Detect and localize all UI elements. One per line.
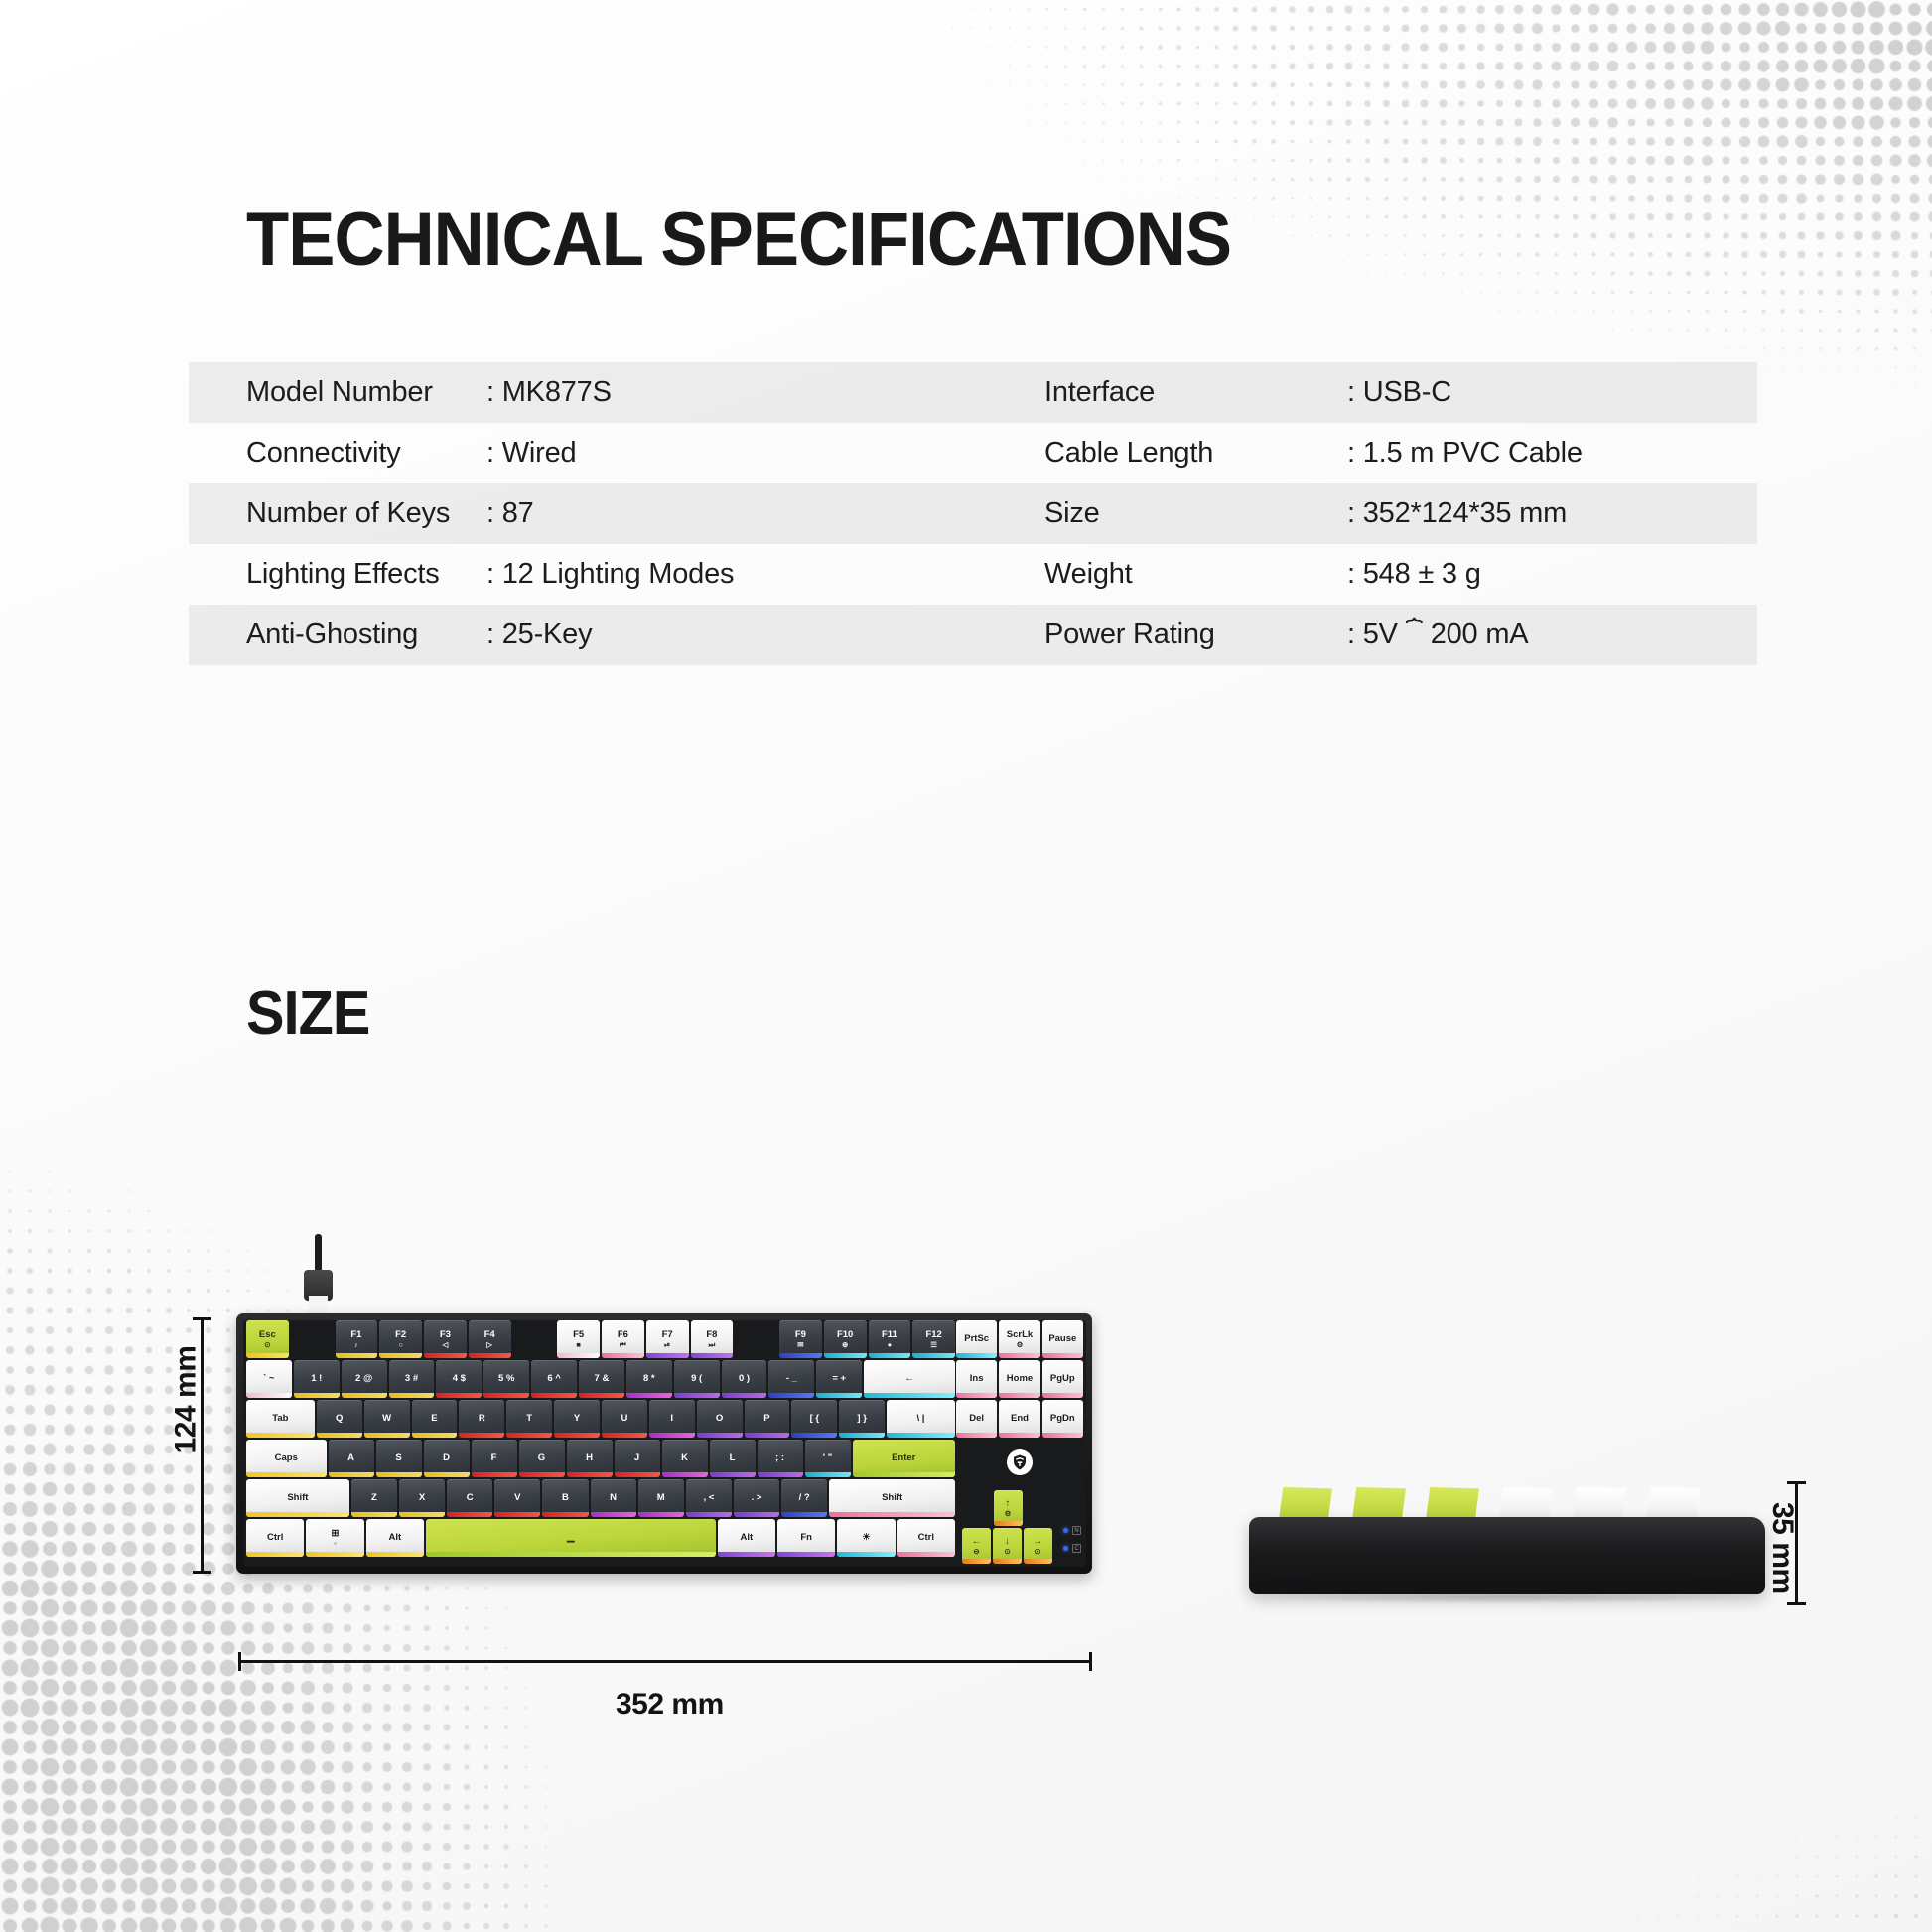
key-label: ←	[972, 1537, 982, 1547]
key-label: = +	[832, 1374, 846, 1384]
key-label: ' "	[823, 1453, 832, 1463]
nav-row-3: DelEndPgDn	[956, 1400, 1083, 1438]
dimension-cap-depth-top	[1787, 1481, 1806, 1484]
key-Y[interactable]: Y	[554, 1400, 600, 1438]
key-label: Del	[969, 1414, 984, 1424]
key-/ ?[interactable]: / ?	[781, 1479, 827, 1517]
key-F11[interactable]: F11●	[869, 1320, 911, 1358]
key-label: C	[467, 1493, 474, 1503]
side-keycap-top	[1573, 1487, 1626, 1521]
key-label: Caps	[275, 1453, 298, 1463]
key-label: 2 @	[355, 1374, 372, 1384]
side-view-foot-left	[1275, 1577, 1309, 1588]
spec-row: Connectivity: WiredCable Length: 1.5 m P…	[189, 423, 1757, 483]
key-label: N	[610, 1493, 617, 1503]
key-label: Ctrl	[267, 1533, 283, 1543]
key-1 ![interactable]: 1 !	[294, 1360, 340, 1398]
spec-label: Number of Keys	[189, 497, 486, 530]
key-sublabel: ⏮	[620, 1341, 626, 1349]
key-sublabel: ⊙	[1004, 1548, 1010, 1556]
key-8 *[interactable]: 8 *	[626, 1360, 672, 1398]
key-label: F3	[440, 1330, 451, 1340]
key-▁[interactable]: ▁	[426, 1519, 716, 1557]
keyboard-nav-cluster: PrtScScrLk⚙PauseInsHomePgUpDelEndPgDn ↑⚙…	[956, 1320, 1083, 1567]
key-label: F9	[795, 1330, 806, 1340]
key-X[interactable]: X	[399, 1479, 445, 1517]
key-label: F8	[706, 1330, 717, 1340]
key-Shift[interactable]: Shift	[829, 1479, 955, 1517]
spec-value: : 12 Lighting Modes	[486, 558, 734, 591]
spec-value: : 87	[486, 497, 534, 530]
spec-label: Power Rating	[1044, 619, 1347, 651]
arrow-keys-cluster: ↑⚙ ←⊖↓⊙→⊙	[962, 1490, 1053, 1564]
led-indicator-1: N	[1063, 1526, 1081, 1535]
key-label: . >	[752, 1493, 762, 1503]
key-Tab[interactable]: Tab	[246, 1400, 315, 1438]
spec-value: : Wired	[486, 437, 576, 470]
key-V[interactable]: V	[494, 1479, 540, 1517]
spec-cell-group-right: Cable Length: 1.5 m PVC Cable	[1044, 437, 1757, 470]
spec-row: Lighting Effects: 12 Lighting ModesWeigh…	[189, 544, 1757, 605]
key-sublabel: ⊙	[264, 1341, 270, 1349]
spec-label: Connectivity	[189, 437, 486, 470]
key-Home[interactable]: Home	[999, 1360, 1039, 1398]
spec-value: : 1.5 m PVC Cable	[1347, 437, 1583, 470]
dimension-label-height: 124 mm	[169, 1346, 203, 1454]
key-F10[interactable]: F10⊕	[824, 1320, 867, 1358]
usb-c-cable-icon	[298, 1234, 338, 1319]
spec-label: Cable Length	[1044, 437, 1347, 470]
dimension-cap-width-left	[238, 1652, 241, 1671]
key-label: R	[479, 1414, 485, 1424]
key-9 ([interactable]: 9 (	[674, 1360, 720, 1398]
key-F12[interactable]: F12☰	[912, 1320, 955, 1358]
key-, <[interactable]: , <	[686, 1479, 732, 1517]
side-keycap-top	[1499, 1487, 1553, 1521]
led-dot	[1063, 1546, 1068, 1551]
key-label: L	[730, 1453, 736, 1463]
key-label: , <	[703, 1493, 714, 1503]
key-5 %[interactable]: 5 %	[483, 1360, 529, 1398]
key-S[interactable]: S	[376, 1440, 422, 1477]
spec-row: Model Number: MK877SInterface: USB-C	[189, 362, 1757, 423]
key-sublabel: ▷	[486, 1341, 492, 1349]
spec-cell-group-left: Connectivity: Wired	[189, 437, 1044, 470]
dimension-cap-depth-bottom	[1787, 1602, 1806, 1605]
key-←[interactable]: ←	[864, 1360, 955, 1398]
key-label: S	[395, 1453, 401, 1463]
key-` ~[interactable]: ` ~	[246, 1360, 292, 1398]
key-Enter[interactable]: Enter	[853, 1440, 956, 1477]
key-label: B	[562, 1493, 569, 1503]
keyboard-top-view: Esc⊙F1♪F2○F3◁F4▷F5■F6⏮F7⏯F8⏭F9✉F10⊕F11●F…	[236, 1313, 1092, 1574]
nav-key-rows: PrtScScrLk⚙PauseInsHomePgUpDelEndPgDn	[956, 1320, 1083, 1438]
page-title-technical-specifications: TECHNICAL SPECIFICATIONS	[246, 197, 1231, 283]
side-keycap-top	[1279, 1487, 1332, 1521]
key-U[interactable]: U	[602, 1400, 647, 1438]
key-Fn[interactable]: Fn	[777, 1519, 835, 1557]
key-label: U	[621, 1414, 627, 1424]
key-sublabel: ⚙	[1005, 1510, 1012, 1518]
keyboard-chassis: Esc⊙F1♪F2○F3◁F4▷F5■F6⏮F7⏯F8⏭F9✉F10⊕F11●F…	[236, 1313, 1092, 1574]
key-F2[interactable]: F2○	[379, 1320, 422, 1358]
spec-cell-group-left: Lighting Effects: 12 Lighting Modes	[189, 558, 1044, 591]
key-F1[interactable]: F1♪	[336, 1320, 378, 1358]
key-label: ←	[904, 1374, 914, 1384]
key-sublabel: ⏯	[664, 1341, 670, 1349]
key-label: ` ~	[263, 1374, 274, 1384]
nav-row-1: PrtScScrLk⚙Pause	[956, 1320, 1083, 1358]
spec-value: : 25-Key	[486, 619, 592, 651]
key-Q[interactable]: Q	[317, 1400, 362, 1438]
key-L[interactable]: L	[710, 1440, 756, 1477]
key-label: \ |	[917, 1414, 925, 1424]
spec-sheet-page: TECHNICAL SPECIFICATIONS SIZE Model Numb…	[0, 0, 1932, 1932]
key-label: K	[681, 1453, 688, 1463]
key-label: ⊞	[332, 1529, 340, 1539]
key-label: Alt	[388, 1533, 401, 1543]
key-F6[interactable]: F6⏮	[602, 1320, 644, 1358]
key-label: Esc	[259, 1330, 276, 1340]
key-; :[interactable]: ; :	[758, 1440, 803, 1477]
spec-row: Anti-Ghosting: 25-KeyPower Rating: 5V ⏞ …	[189, 605, 1757, 665]
key-⊞[interactable]: ⊞▫	[306, 1519, 363, 1557]
key-G[interactable]: G	[519, 1440, 565, 1477]
key-Esc[interactable]: Esc⊙	[246, 1320, 289, 1358]
key-label: Alt	[740, 1533, 753, 1543]
spec-cell-group-left: Model Number: MK877S	[189, 376, 1044, 409]
key-label: ; :	[775, 1453, 784, 1463]
key-label: P	[763, 1414, 769, 1424]
key-label: I	[670, 1414, 673, 1424]
key-PgDn[interactable]: PgDn	[1042, 1400, 1083, 1438]
halftone-dots-bottom-right	[1132, 1588, 1932, 1932]
key-label: Fn	[800, 1533, 812, 1543]
key-Shift[interactable]: Shift	[246, 1479, 349, 1517]
led-dot	[1063, 1528, 1068, 1533]
key-label: →	[1034, 1537, 1043, 1547]
key-label: Shift	[882, 1493, 902, 1503]
key-label: Ctrl	[918, 1533, 934, 1543]
key-label: Y	[574, 1414, 580, 1424]
key-sublabel: ⊖	[973, 1548, 979, 1556]
key-] }[interactable]: ] }	[839, 1400, 885, 1438]
usb-c-connector-tip	[309, 1296, 328, 1314]
key-E[interactable]: E	[412, 1400, 458, 1438]
spec-cell-group-right: Power Rating: 5V ⏞ 200 mA	[1044, 619, 1757, 651]
key-label: - _	[786, 1374, 797, 1384]
key-F3[interactable]: F3◁	[424, 1320, 467, 1358]
key-F8[interactable]: F8⏭	[691, 1320, 734, 1358]
key-. >[interactable]: . >	[734, 1479, 779, 1517]
key-K[interactable]: K	[662, 1440, 708, 1477]
key-label: 8 *	[643, 1374, 655, 1384]
side-keycap-top	[1426, 1487, 1479, 1521]
key-M[interactable]: M	[638, 1479, 684, 1517]
spec-cell-group-right: Interface: USB-C	[1044, 376, 1757, 409]
key-label: Shift	[287, 1493, 308, 1503]
key-= +[interactable]: = +	[816, 1360, 862, 1398]
key-label: Tab	[272, 1414, 288, 1424]
specifications-table: Model Number: MK877SInterface: USB-CConn…	[189, 362, 1757, 665]
key-sublabel: ■	[576, 1341, 581, 1349]
key-sublabel: ✉	[797, 1341, 803, 1349]
key-sublabel: ▫	[334, 1540, 337, 1548]
key-label: F12	[925, 1330, 941, 1340]
key-label: ☀	[862, 1533, 871, 1543]
key-label: 5 %	[498, 1374, 514, 1384]
spec-label: Size	[1044, 497, 1347, 530]
key-arrow-up[interactable]: ↑⚙	[994, 1490, 1023, 1526]
key-label: T	[526, 1414, 532, 1424]
led-indicator-group: NC	[1063, 1526, 1081, 1553]
key-Z[interactable]: Z	[351, 1479, 397, 1517]
key-F[interactable]: F	[472, 1440, 517, 1477]
key-label: O	[716, 1414, 723, 1424]
key-C[interactable]: C	[447, 1479, 492, 1517]
key-sublabel: ○	[398, 1341, 403, 1349]
key-label: W	[382, 1414, 391, 1424]
key-label: F1	[350, 1330, 361, 1340]
key-PgUp[interactable]: PgUp	[1042, 1360, 1083, 1398]
key-3 #[interactable]: 3 #	[389, 1360, 435, 1398]
key-N[interactable]: N	[591, 1479, 636, 1517]
nav-row-2: InsHomePgUp	[956, 1360, 1083, 1398]
section-title-size: SIZE	[246, 978, 369, 1048]
key-Del[interactable]: Del	[956, 1400, 997, 1438]
key-label: F11	[882, 1330, 897, 1340]
dimension-line-width	[238, 1660, 1092, 1663]
spec-value: : 5V ⏞ 200 mA	[1347, 619, 1528, 651]
key-label: End	[1011, 1414, 1029, 1424]
key-J[interactable]: J	[615, 1440, 660, 1477]
key-arrow-right[interactable]: →⊙	[1024, 1528, 1052, 1564]
key-label: F2	[395, 1330, 406, 1340]
spec-value: : 548 ± 3 g	[1347, 558, 1481, 591]
key-4 $[interactable]: 4 $	[436, 1360, 482, 1398]
key-label: ScrLk	[1007, 1330, 1033, 1340]
key-sublabel: ⊕	[842, 1341, 848, 1349]
key-label: D	[443, 1453, 450, 1463]
key-label: [ {	[810, 1414, 820, 1424]
key-Ins[interactable]: Ins	[956, 1360, 997, 1398]
arrow-up-row: ↑⚙	[962, 1490, 1053, 1526]
key-label: PgDn	[1050, 1414, 1075, 1424]
key-label: 0 )	[739, 1374, 750, 1384]
key-☀[interactable]: ☀	[837, 1519, 895, 1557]
key-label: V	[514, 1493, 520, 1503]
dimension-cap-height-top	[193, 1317, 211, 1320]
key-label: PgUp	[1050, 1374, 1075, 1384]
key-Alt[interactable]: Alt	[718, 1519, 775, 1557]
key-label: A	[347, 1453, 354, 1463]
key-I[interactable]: I	[649, 1400, 695, 1438]
key-label: Home	[1007, 1374, 1033, 1384]
key-End[interactable]: End	[999, 1400, 1039, 1438]
key-sublabel: ⏭	[709, 1341, 716, 1349]
key-label: J	[634, 1453, 639, 1463]
key-P[interactable]: P	[745, 1400, 790, 1438]
key-D[interactable]: D	[424, 1440, 470, 1477]
key-label: 3 #	[405, 1374, 418, 1384]
key-ScrLk[interactable]: ScrLk⚙	[999, 1320, 1039, 1358]
key-- _[interactable]: - _	[768, 1360, 814, 1398]
key-label: 6 ^	[547, 1374, 560, 1384]
keyboard-side-view	[1249, 1471, 1765, 1610]
side-view-foot-right	[1694, 1577, 1727, 1588]
key-label: / ?	[799, 1493, 810, 1503]
key-label: Z	[371, 1493, 377, 1503]
side-keycap-top	[1352, 1487, 1406, 1521]
key-label: M	[657, 1493, 665, 1503]
dimension-cap-width-right	[1089, 1652, 1092, 1671]
key-label: F10	[837, 1330, 853, 1340]
key-Ctrl[interactable]: Ctrl	[897, 1519, 955, 1557]
key-label: ↑	[1006, 1499, 1011, 1509]
key-[ {[interactable]: [ {	[791, 1400, 837, 1438]
spec-row: Number of Keys: 87Size: 352*124*35 mm	[189, 483, 1757, 544]
key-B[interactable]: B	[542, 1479, 588, 1517]
led-tag: C	[1072, 1544, 1081, 1553]
led-tag: N	[1072, 1526, 1081, 1535]
key-sublabel: ⊙	[1035, 1548, 1040, 1556]
spec-label: Anti-Ghosting	[189, 619, 486, 651]
key-2 @[interactable]: 2 @	[342, 1360, 387, 1398]
key-label: H	[586, 1453, 593, 1463]
side-keycap-top	[1646, 1487, 1700, 1521]
key-label: F	[491, 1453, 497, 1463]
key-R[interactable]: R	[459, 1400, 504, 1438]
key-label: 1 !	[311, 1374, 322, 1384]
key-arrow-down[interactable]: ↓⊙	[993, 1528, 1022, 1564]
spec-value: : 352*124*35 mm	[1347, 497, 1567, 530]
key-label: ↓	[1005, 1537, 1010, 1547]
key-label: F5	[573, 1330, 584, 1340]
key-H[interactable]: H	[567, 1440, 613, 1477]
side-view-chassis	[1249, 1517, 1765, 1594]
key-A[interactable]: A	[329, 1440, 374, 1477]
key-label: ▁	[567, 1533, 574, 1543]
spec-cell-group-right: Size: 352*124*35 mm	[1044, 497, 1757, 530]
key-sublabel: ◁	[442, 1341, 448, 1349]
key-arrow-left[interactable]: ←⊖	[962, 1528, 991, 1564]
key-label: ] }	[857, 1414, 867, 1424]
key-label: PrtSc	[964, 1334, 989, 1344]
key-label: X	[419, 1493, 425, 1503]
key-Caps[interactable]: Caps	[246, 1440, 327, 1477]
key-7 &[interactable]: 7 &	[579, 1360, 624, 1398]
dimension-cap-height-bottom	[193, 1571, 211, 1574]
spec-label: Model Number	[189, 376, 486, 409]
key-label: G	[538, 1453, 545, 1463]
key-sublabel: ●	[888, 1341, 893, 1349]
key-label: 7 &	[595, 1374, 610, 1384]
key-0 )[interactable]: 0 )	[722, 1360, 767, 1398]
key-label: Q	[336, 1414, 343, 1424]
key-F7[interactable]: F7⏯	[646, 1320, 689, 1358]
key-label: F7	[662, 1330, 673, 1340]
key-label: Enter	[892, 1453, 915, 1463]
key-sublabel: ♪	[354, 1341, 358, 1349]
spec-value: : MK877S	[486, 376, 612, 409]
spec-cell-group-left: Number of Keys: 87	[189, 497, 1044, 530]
key-6 ^[interactable]: 6 ^	[531, 1360, 577, 1398]
key-label: 4 $	[453, 1374, 466, 1384]
key-T[interactable]: T	[506, 1400, 552, 1438]
spec-cell-group-right: Weight: 548 ± 3 g	[1044, 558, 1757, 591]
key-label: E	[431, 1414, 437, 1424]
key-label: 9 (	[691, 1374, 702, 1384]
spec-label: Weight	[1044, 558, 1347, 591]
key-label: Ins	[970, 1374, 984, 1384]
key-W[interactable]: W	[364, 1400, 410, 1438]
keyboard-plate: Esc⊙F1♪F2○F3◁F4▷F5■F6⏮F7⏯F8⏭F9✉F10⊕F11●F…	[243, 1320, 1086, 1567]
key-F9[interactable]: F9✉	[779, 1320, 822, 1358]
key-F5[interactable]: F5■	[557, 1320, 600, 1358]
key-' "[interactable]: ' "	[805, 1440, 851, 1477]
dimension-label-width: 352 mm	[616, 1688, 724, 1722]
dimension-label-depth: 35 mm	[1765, 1502, 1799, 1594]
spec-label: Interface	[1044, 376, 1347, 409]
key-label: F4	[484, 1330, 495, 1340]
key-sublabel: ⚙	[1017, 1341, 1024, 1349]
spec-value: : USB-C	[1347, 376, 1451, 409]
led-indicator-2: C	[1063, 1544, 1081, 1553]
arrow-lower-row: ←⊖↓⊙→⊙	[962, 1528, 1053, 1564]
key-O[interactable]: O	[697, 1400, 743, 1438]
key-Pause[interactable]: Pause	[1042, 1320, 1083, 1358]
spec-cell-group-left: Anti-Ghosting: 25-Key	[189, 619, 1044, 651]
fantech-brand-logo	[1007, 1449, 1033, 1475]
spec-label: Lighting Effects	[189, 558, 486, 591]
key-label: Pause	[1048, 1334, 1076, 1344]
key-label: F6	[618, 1330, 628, 1340]
key-PrtSc[interactable]: PrtSc	[956, 1320, 997, 1358]
key-\ |[interactable]: \ |	[887, 1400, 955, 1438]
key-Ctrl[interactable]: Ctrl	[246, 1519, 304, 1557]
key-Alt[interactable]: Alt	[366, 1519, 424, 1557]
key-F4[interactable]: F4▷	[469, 1320, 511, 1358]
key-sublabel: ☰	[930, 1341, 937, 1349]
